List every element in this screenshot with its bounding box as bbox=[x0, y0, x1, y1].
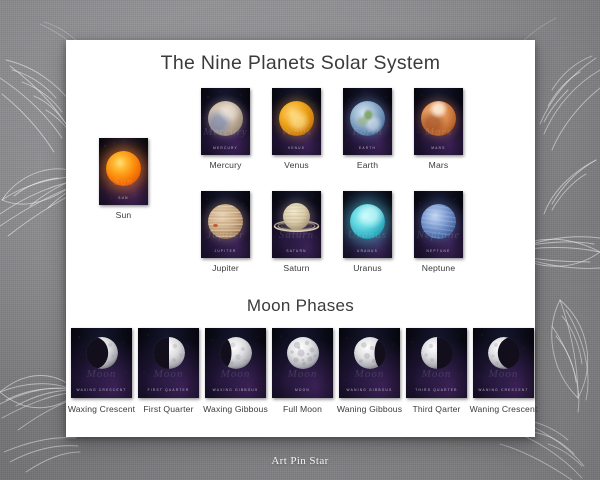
card-label: MARS bbox=[414, 146, 463, 150]
caption-moon-waning-gibbous: Waning Gibbous bbox=[331, 404, 408, 414]
moon-disc-waxing-crescent bbox=[85, 336, 119, 370]
card-glyph: Venus bbox=[272, 126, 321, 138]
card-moon-waxing-gibbous[interactable]: Moon WAXING GIBBOUS bbox=[205, 328, 266, 398]
caption-mercury: Mercury bbox=[191, 160, 260, 170]
card-label: URANUS bbox=[343, 249, 392, 253]
moon-disc-waxing-gibbous bbox=[219, 336, 253, 370]
card-moon-first-quarter[interactable]: Moon FIRST QUARTER bbox=[138, 328, 199, 398]
card-label: MERCURY bbox=[201, 146, 250, 150]
caption-venus: Venus bbox=[262, 160, 331, 170]
card-label: JUPITER bbox=[201, 249, 250, 253]
card-glyph: Saturn bbox=[272, 229, 321, 241]
caption-saturn: Saturn bbox=[262, 263, 331, 273]
card-label: VENUS bbox=[272, 146, 321, 150]
card-moon-third-quarter[interactable]: Moon THIRD QUARTER bbox=[406, 328, 467, 398]
card-glyph: Moon bbox=[473, 368, 534, 380]
card-jupiter[interactable]: Jupiter JUPITER bbox=[201, 191, 250, 258]
caption-moon-waning-crescent: Waning Crescent bbox=[465, 404, 542, 414]
card-label: THIRD QUARTER bbox=[406, 388, 467, 392]
caption-moon-waxing-gibbous: Waxing Gibbous bbox=[197, 404, 274, 414]
caption-moon-third-quarter: Third Qarter bbox=[398, 404, 475, 414]
section-title-moon-phases: Moon Phases bbox=[66, 296, 535, 316]
card-label: FIRST QUARTER bbox=[138, 388, 199, 392]
card-glyph: Moon bbox=[272, 368, 333, 380]
card-label: WAXING GIBBOUS bbox=[205, 388, 266, 392]
card-glyph: Moon bbox=[339, 368, 400, 380]
caption-uranus: Uranus bbox=[333, 263, 402, 273]
card-glyph: Moon bbox=[138, 368, 199, 380]
poster-mockup-scene: The Nine Planets Solar System Sun SUN Su… bbox=[0, 0, 600, 480]
card-saturn[interactable]: Saturn SATURN bbox=[272, 191, 321, 258]
card-label: EARTH bbox=[343, 146, 392, 150]
caption-jupiter: Jupiter bbox=[191, 263, 260, 273]
card-glyph: Jupiter bbox=[201, 229, 250, 241]
card-glyph: Moon bbox=[205, 368, 266, 380]
watermark: Art Pin Star bbox=[0, 455, 600, 467]
card-earth[interactable]: Earth EARTH bbox=[343, 88, 392, 155]
card-uranus[interactable]: Uranus URANUS bbox=[343, 191, 392, 258]
card-glyph: Moon bbox=[71, 368, 132, 380]
great-red-spot bbox=[213, 224, 218, 227]
card-glyph: Earth bbox=[343, 126, 392, 138]
poster-sheet: The Nine Planets Solar System Sun SUN Su… bbox=[66, 40, 535, 437]
card-label: SATURN bbox=[272, 249, 321, 253]
moon-disc-waning-gibbous bbox=[353, 336, 387, 370]
card-label: MOON bbox=[272, 388, 333, 392]
card-label: SUN bbox=[99, 196, 148, 200]
card-glyph: Mercury bbox=[201, 126, 250, 138]
moon-disc-third-quarter bbox=[420, 336, 454, 370]
card-label: WANING GIBBOUS bbox=[339, 388, 400, 392]
card-mars[interactable]: Mars MARS bbox=[414, 88, 463, 155]
caption-sun: Sun bbox=[89, 210, 158, 220]
card-label: WANING CRESCENT bbox=[473, 388, 534, 392]
card-label: WAXING CRESCENT bbox=[71, 388, 132, 392]
card-moon-full[interactable]: Moon MOON bbox=[272, 328, 333, 398]
card-glyph: Neptune bbox=[414, 229, 463, 241]
card-mercury[interactable]: Mercury MERCURY bbox=[201, 88, 250, 155]
card-glyph: Moon bbox=[406, 368, 467, 380]
card-moon-waning-crescent[interactable]: Moon WANING CRESCENT bbox=[473, 328, 534, 398]
caption-neptune: Neptune bbox=[404, 263, 473, 273]
card-glyph: Mars bbox=[414, 126, 463, 138]
caption-mars: Mars bbox=[404, 160, 473, 170]
card-glyph: Sun bbox=[99, 176, 148, 188]
card-sun[interactable]: Sun SUN bbox=[99, 138, 148, 205]
card-label: NEPTUNE bbox=[414, 249, 463, 253]
moon-disc-full bbox=[286, 336, 320, 370]
caption-moon-first-quarter: First Quarter bbox=[130, 404, 207, 414]
moon-disc-first-quarter bbox=[152, 336, 186, 370]
card-moon-waxing-crescent[interactable]: Moon WAXING CRESCENT bbox=[71, 328, 132, 398]
card-glyph: Uranus bbox=[343, 229, 392, 241]
caption-moon-full: Full Moon bbox=[264, 404, 341, 414]
card-moon-waning-gibbous[interactable]: Moon WANING GIBBOUS bbox=[339, 328, 400, 398]
card-venus[interactable]: Venus VENUS bbox=[272, 88, 321, 155]
card-neptune[interactable]: Neptune NEPTUNE bbox=[414, 191, 463, 258]
caption-moon-waxing-crescent: Waxing Crescent bbox=[63, 404, 140, 414]
caption-earth: Earth bbox=[333, 160, 402, 170]
page-title: The Nine Planets Solar System bbox=[66, 52, 535, 75]
moon-disc-waning-crescent bbox=[487, 336, 521, 370]
